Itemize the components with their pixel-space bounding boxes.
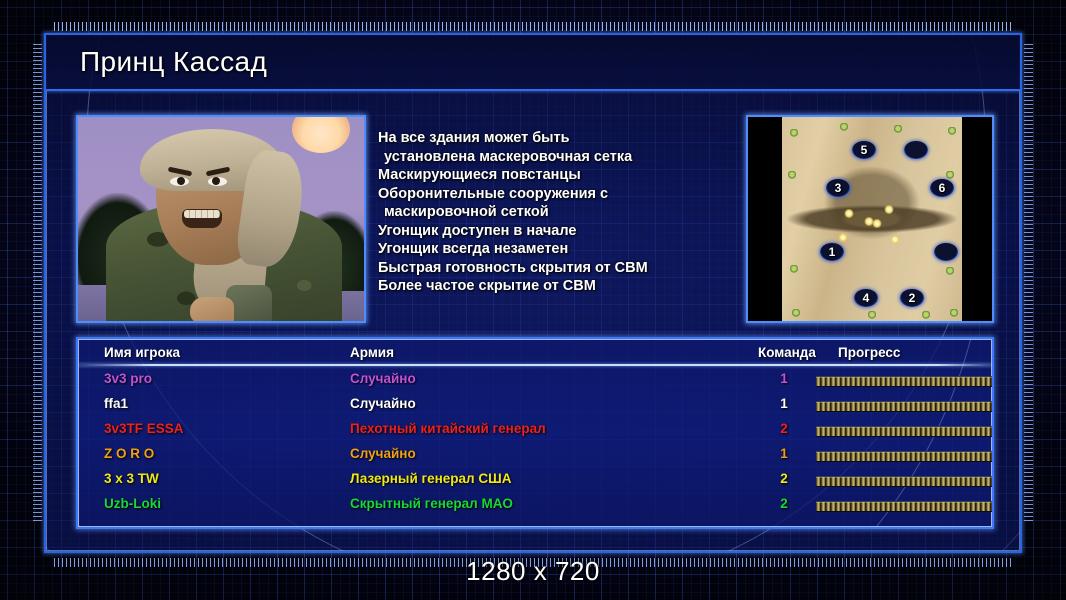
header-underline: [78, 364, 992, 366]
description-line: Более частое скрытие от CBM: [378, 277, 648, 296]
player-name: Z O R O: [104, 446, 154, 461]
player-team: 1: [758, 446, 810, 461]
map-spawn-marker: 2: [900, 289, 924, 307]
map-tree-icon: [790, 265, 798, 273]
map-spawn-marker: [904, 141, 928, 159]
player-team: 2: [758, 471, 810, 486]
ruler-top: [54, 22, 1014, 31]
player-progress-fill: [816, 402, 994, 411]
sun-icon: [292, 115, 350, 153]
map-supply-icon: [890, 235, 900, 244]
player-team: 2: [758, 421, 810, 436]
portrait-artwork: [78, 117, 364, 321]
map-spawn-marker: 1: [820, 243, 844, 261]
player-name: 3v3TF ESSA: [104, 421, 184, 436]
player-progress-fill: [816, 427, 994, 436]
map-artwork: 536142: [748, 117, 992, 321]
pupil-right: [212, 177, 220, 185]
map-spawn-marker: 4: [854, 289, 878, 307]
map-supply-icon: [838, 233, 848, 242]
description-line: установлена маскеровочная сетка: [378, 148, 648, 167]
player-army: Скрытный генерал МАО: [350, 496, 513, 511]
map-supply-icon: [872, 219, 882, 228]
main-panel: Принц Кассад: [44, 33, 1022, 553]
player-army: Случайно: [350, 396, 416, 411]
map-tree-icon: [792, 309, 800, 317]
player-team: 1: [758, 371, 810, 386]
map-supply-icon: [844, 209, 854, 218]
map-spawn-marker: [934, 243, 958, 261]
table-row[interactable]: 3 x 3 TWЛазерный генерал США2: [78, 471, 992, 496]
description-line: Угонщик всегда незаметен: [378, 240, 648, 259]
map-tree-icon: [894, 125, 902, 133]
map-tree-icon: [946, 171, 954, 179]
map-tree-icon: [790, 129, 798, 137]
description-line: Маскирующиеся повстанцы: [378, 166, 648, 185]
resolution-label: 1280 x 720: [0, 556, 1066, 587]
player-progress-bar: [816, 401, 994, 412]
column-header-team: Команда: [758, 345, 816, 360]
ruler-right: [1024, 44, 1033, 524]
table-row[interactable]: ffa1Случайно1: [78, 396, 992, 421]
player-progress-fill: [816, 452, 994, 461]
player-progress-fill: [816, 502, 994, 511]
description-line: Оборонительные сооружения с: [378, 185, 648, 204]
player-progress-bar: [816, 501, 994, 512]
map-tree-icon: [868, 311, 876, 319]
player-name: ffa1: [104, 396, 128, 411]
description-line: На все здания может быть: [378, 129, 648, 148]
hand: [190, 297, 234, 323]
map-tree-icon: [950, 309, 958, 317]
player-team: 1: [758, 396, 810, 411]
teeth: [184, 210, 220, 218]
ruler-left: [33, 44, 42, 524]
column-header-army: Армия: [350, 345, 394, 360]
player-progress-bar: [816, 451, 994, 462]
map-spawn-marker: 6: [930, 179, 954, 197]
map-supply-icon: [884, 205, 894, 214]
player-name: 3v3 pro: [104, 371, 152, 386]
title-bar: Принц Кассад: [46, 35, 1020, 91]
map-preview: 536142: [746, 115, 994, 323]
table-row[interactable]: 3v3TF ESSAПехотный китайский генерал2: [78, 421, 992, 446]
map-tree-icon: [922, 311, 930, 319]
pupil-left: [177, 177, 185, 185]
map-terrain: 536142: [782, 117, 962, 321]
map-spawn-marker: 3: [826, 179, 850, 197]
column-header-progress: Прогресс: [838, 345, 900, 360]
general-description: На все здания может бытьустановлена маск…: [378, 115, 738, 323]
general-portrait: [76, 115, 366, 323]
description-line: маскировочной сеткой: [378, 203, 648, 222]
table-row[interactable]: Uzb-LokiСкрытный генерал МАО2: [78, 496, 992, 521]
column-header-name: Имя игрока: [104, 345, 180, 360]
map-tree-icon: [948, 127, 956, 135]
player-army: Пехотный китайский генерал: [350, 421, 546, 436]
map-tree-icon: [946, 267, 954, 275]
table-header-row: Имя игрока Армия Команда Прогресс: [78, 339, 992, 365]
table-row[interactable]: Z O R OСлучайно1: [78, 446, 992, 471]
player-progress-bar: [816, 426, 994, 437]
player-army: Случайно: [350, 446, 416, 461]
player-army: Случайно: [350, 371, 416, 386]
table-row[interactable]: 3v3 proСлучайно1: [78, 371, 992, 396]
map-tree-icon: [840, 123, 848, 131]
player-progress-fill: [816, 377, 994, 386]
page-title: Принц Кассад: [80, 46, 267, 78]
map-spawn-marker: 5: [852, 141, 876, 159]
player-progress-bar: [816, 476, 994, 487]
media-row: На все здания может бытьустановлена маск…: [76, 115, 994, 323]
description-line: Угонщик доступен в начале: [378, 222, 648, 241]
description-line: Быстрая готовность скрытия от CBM: [378, 259, 648, 278]
player-team: 2: [758, 496, 810, 511]
player-name: Uzb-Loki: [104, 496, 161, 511]
player-army: Лазерный генерал США: [350, 471, 511, 486]
map-tree-icon: [788, 171, 796, 179]
player-list-panel: Имя игрока Армия Команда Прогресс 3v3 pr…: [76, 337, 994, 529]
player-progress-bar: [816, 376, 994, 387]
description-list: На все здания может бытьустановлена маск…: [378, 129, 648, 296]
player-progress-fill: [816, 477, 994, 486]
player-name: 3 x 3 TW: [104, 471, 159, 486]
